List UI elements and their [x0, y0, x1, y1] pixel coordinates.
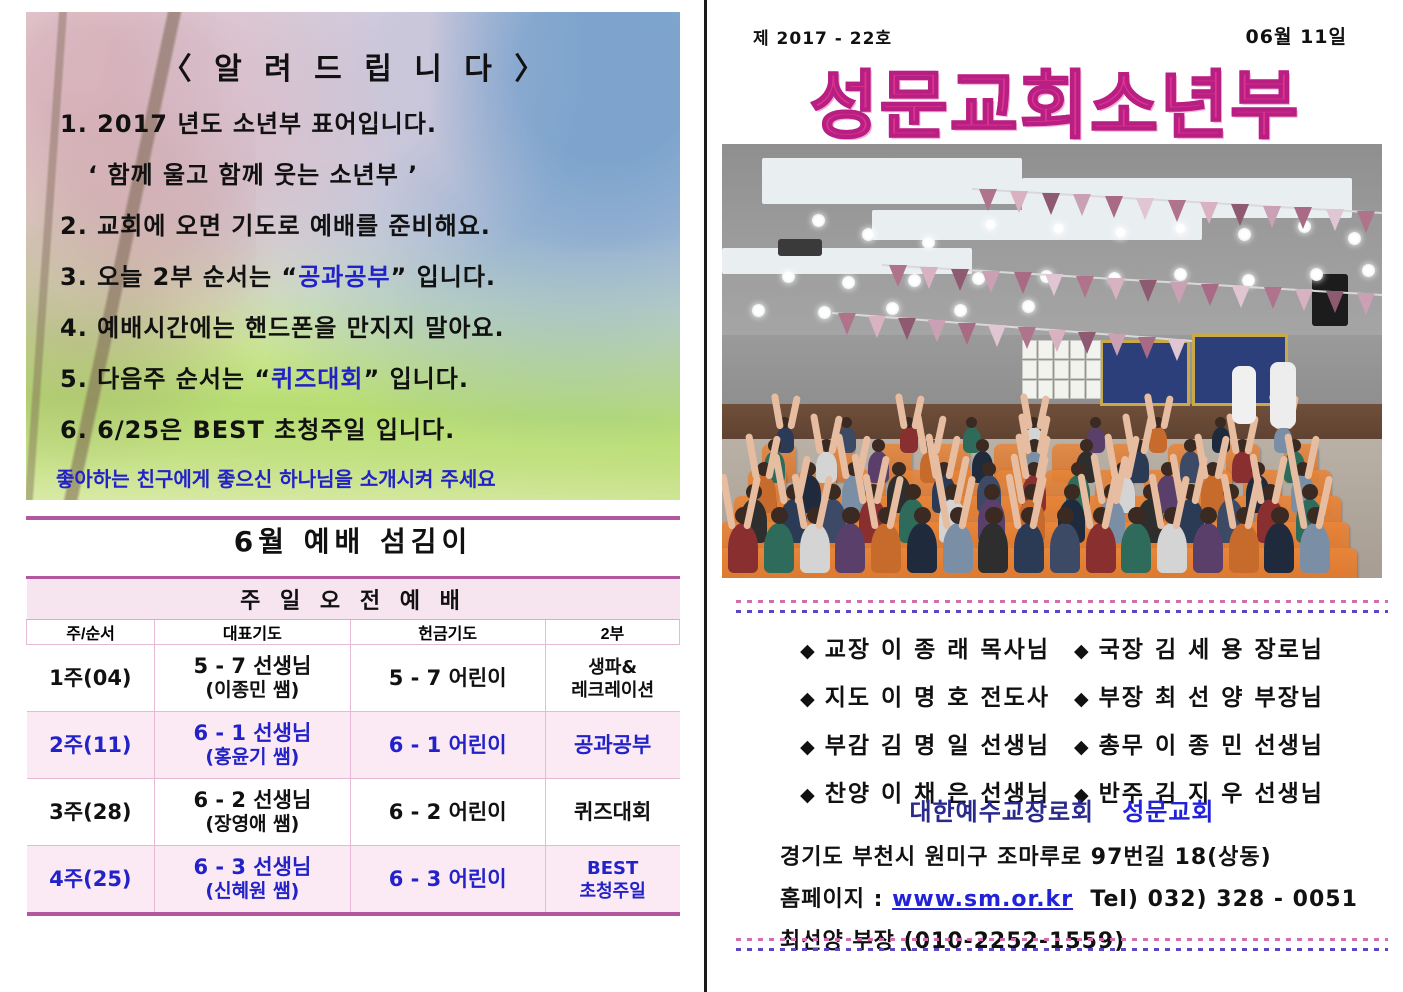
announcement-item-text: 1. 2017 년도 소년부 표어입니다. — [60, 110, 437, 138]
photo-ceiling-light — [1174, 222, 1187, 235]
photo-bunting-flag — [1138, 337, 1156, 359]
photo-ceiling-light — [1348, 232, 1361, 245]
photo-person — [943, 523, 973, 573]
staff-row: ◆지도 이 명 호 전도사◆부장 최 선 양 부장님 — [736, 678, 1388, 712]
diamond-bullet-icon: ◆ — [800, 640, 817, 662]
schedule-subcaption: 주 일 오 전 예 배 — [27, 579, 680, 620]
photo-bunting-flag — [1048, 330, 1066, 352]
photo-bunting-flag — [1010, 191, 1028, 213]
photo-ceiling-light — [1174, 268, 1187, 281]
photo-person-head — [1200, 507, 1217, 524]
photo-bunting-flag — [1326, 291, 1344, 313]
photo-person-head — [1215, 417, 1226, 428]
photo-bunting-flag — [1326, 209, 1344, 231]
bulletin-page: 〈 알 려 드 립 니 다 〉 1. 2017 년도 소년부 표어입니다.‘ 함… — [0, 0, 1403, 992]
staff-name: 김 세 용 장로님 — [1155, 637, 1324, 663]
photo-person — [900, 427, 918, 453]
announcement-item-text: 4. 예배시간에는 핸드폰을 만지지 말아요. — [60, 314, 505, 342]
photo-bunting-flag — [868, 316, 886, 338]
photo-person-head — [1064, 484, 1080, 500]
photo-person — [1086, 523, 1116, 573]
staff-role: 부장 — [1099, 685, 1155, 711]
staff-role: 교장 — [825, 637, 881, 663]
prayer-teacher: (신혜원 쌤) — [155, 880, 349, 902]
photo-wall-paper — [1086, 360, 1101, 379]
photo-bunting-flag — [1107, 278, 1125, 300]
church-name-line: 대한예수교장로회 성문교회 — [736, 792, 1388, 827]
photo-person-head — [892, 462, 906, 476]
photo-ceiling-light — [812, 214, 825, 227]
photo-bunting-flag — [838, 313, 856, 335]
schedule-week: 3주(28) — [27, 779, 155, 846]
second-session-line2: 레크레이션 — [546, 680, 680, 703]
diamond-bullet-icon: ◆ — [1074, 640, 1091, 662]
photo-person — [764, 523, 794, 573]
photo-stage-person — [1232, 366, 1256, 424]
diamond-bullet-icon: ◆ — [1074, 736, 1091, 758]
staff-item: ◆교장 이 종 래 목사님 — [800, 630, 1050, 664]
photo-ceiling-light — [1362, 264, 1375, 277]
photo-person — [1149, 427, 1167, 453]
denomination-label: 대한예수교장로회 — [909, 798, 1094, 826]
second-session-line1: 생파& — [588, 657, 637, 678]
photo-bunting-flag — [1295, 289, 1313, 311]
photo-bunting-flag — [982, 271, 1000, 293]
telephone: Tel) 032) 328 - 0051 — [1090, 887, 1358, 912]
photo-person-head — [914, 507, 931, 524]
schedule-col-header: 주/순서 — [27, 620, 155, 645]
prayer-class: 6 - 3 선생님 — [193, 855, 311, 879]
prayer-class: 6 - 2 선생님 — [193, 788, 311, 812]
photo-person — [978, 523, 1008, 573]
announcement-item-text: 2. 교회에 오면 기도로 예배를 준비해요. — [60, 212, 491, 240]
schedule-offering-prayer: 6 - 2 어린이 — [350, 779, 545, 846]
photo-person-head — [985, 507, 1002, 524]
schedule-week: 2주(11) — [27, 712, 155, 779]
staff-row: ◆교장 이 종 래 목사님◆국장 김 세 용 장로님 — [736, 630, 1388, 664]
schedule-second-session: 생파&레크레이션 — [545, 645, 679, 712]
photo-wall-paper — [1086, 380, 1101, 399]
staff-item: ◆총무 이 종 민 선생님 — [1074, 726, 1324, 760]
prayer-class: 5 - 7 선생님 — [193, 654, 311, 678]
staff-item: ◆국장 김 세 용 장로님 — [1074, 630, 1324, 664]
photo-person-head — [1080, 439, 1093, 452]
staff-role: 부감 — [825, 733, 881, 759]
schedule-row: 4주(25)6 - 3 선생님(신혜원 쌤)6 - 3 어린이BEST초청주일 — [27, 846, 680, 915]
schedule-main-prayer: 5 - 7 선생님(이종민 쌤) — [155, 645, 350, 712]
announcement-item-text: ‘ 함께 울고 함께 웃는 소년부 ’ — [88, 161, 418, 189]
announcement-item: 6. 6/25은 BEST 초청주일 입니다. — [60, 410, 660, 445]
photo-person-head — [966, 417, 977, 428]
photo-person — [871, 523, 901, 573]
schedule-week: 4주(25) — [27, 846, 155, 915]
photo-bunting-flag — [1232, 286, 1250, 308]
photo-bunting-flag — [1105, 196, 1123, 218]
photo-person — [728, 523, 758, 573]
announcement-item: 5. 다음주 순서는 “퀴즈대회” 입니다. — [60, 359, 660, 394]
second-session-line2: 초청주일 — [546, 881, 680, 904]
diamond-bullet-icon: ◆ — [1074, 688, 1091, 710]
announcement-item-highlight: 공과공부 — [298, 263, 390, 291]
photo-person-head — [976, 439, 989, 452]
photo-bunting-flag — [1170, 282, 1188, 304]
homepage-label: 홈페이지 : — [780, 887, 892, 912]
photo-person-head — [872, 439, 885, 452]
schedule-col-header: 헌금기도 — [350, 620, 545, 645]
photo-person — [1121, 523, 1151, 573]
staff-item: ◆지도 이 명 호 전도사 — [800, 678, 1050, 712]
photo-person — [1229, 523, 1259, 573]
photo-person-head — [1128, 507, 1145, 524]
schedule-column-headers: 주/순서대표기도헌금기도2부 — [27, 620, 680, 645]
photo-person-head — [842, 507, 859, 524]
photo-bunting-flag — [1073, 194, 1091, 216]
photo-ceiling-light — [1052, 222, 1065, 235]
second-session-line1: 퀴즈대회 — [574, 800, 651, 824]
photo-person — [1050, 523, 1080, 573]
schedule-col-header: 대표기도 — [155, 620, 350, 645]
photo-person-head — [905, 484, 921, 500]
photo-bunting-flag — [889, 265, 907, 287]
photo-ceiling-light — [922, 236, 935, 249]
photo-person — [1300, 523, 1330, 573]
photo-bunting-flag — [1014, 272, 1032, 294]
photo-ceiling-light — [818, 306, 831, 319]
announcement-item-text: 6. 6/25은 BEST 초청주일 입니다. — [60, 416, 455, 444]
schedule-second-session: 공과공부 — [545, 712, 679, 779]
schedule-col-header: 2부 — [545, 620, 679, 645]
photo-person-head — [1302, 484, 1318, 500]
photo-bunting-flag — [1264, 287, 1282, 309]
schedule-row: 1주(04)5 - 7 선생님(이종민 쌤)5 - 7 어린이생파&레크레이션 — [27, 645, 680, 712]
photo-person — [907, 523, 937, 573]
schedule-second-session: 퀴즈대회 — [545, 779, 679, 846]
photo-person-head — [984, 484, 1000, 500]
staff-item: ◆부장 최 선 양 부장님 — [1074, 678, 1324, 712]
diamond-bullet-icon: ◆ — [800, 736, 817, 758]
photo-bunting-flag — [898, 318, 916, 340]
photo-bunting-flag — [928, 320, 946, 342]
photo-bunting-flag — [958, 323, 976, 345]
staff-role: 총무 — [1099, 733, 1155, 759]
announcement-item-highlight: 퀴즈대회 — [271, 365, 363, 393]
divider-dots-blue-bottom — [736, 948, 1388, 951]
staff-row: ◆부감 김 명 일 선생님◆총무 이 종 민 선생님 — [736, 726, 1388, 760]
photo-bunting-flag — [1263, 206, 1281, 228]
schedule-body: 1주(04)5 - 7 선생님(이종민 쌤)5 - 7 어린이생파&레크레이션2… — [27, 645, 680, 915]
schedule-row: 2주(11)6 - 1 선생님(홍윤기 쌤)6 - 1 어린이공과공부 — [27, 712, 680, 779]
photo-ceiling-light — [1114, 226, 1127, 239]
divider-dots-blue-top — [736, 610, 1388, 613]
photo-wall-paper — [1070, 360, 1085, 379]
photo-person-head — [1057, 507, 1074, 524]
photo-bunting-flag — [1108, 334, 1126, 356]
photo-stage-person — [1270, 362, 1296, 428]
announcement-footer-text: 좋아하는 친구에게 좋으신 하나님을 소개시켜 주세요 — [56, 463, 660, 492]
photo-wall-paper — [1054, 380, 1069, 399]
divider-dots-pink-bottom — [736, 938, 1388, 941]
photo-wall-paper — [1022, 360, 1037, 379]
announcement-title: 〈 알 려 드 립 니 다 〉 — [52, 44, 660, 88]
issue-date: 06월 11일 — [1246, 22, 1347, 49]
photo-bunting-flag — [1045, 274, 1063, 296]
photo-person — [1014, 523, 1044, 573]
schedule-offering-prayer: 6 - 3 어린이 — [350, 846, 545, 915]
photo-person-head — [1271, 507, 1288, 524]
schedule-offering-prayer: 6 - 1 어린이 — [350, 712, 545, 779]
photo-ceiling-light — [842, 276, 855, 289]
masthead-title: 성문교회소년부 — [707, 46, 1403, 153]
staff-role: 국장 — [1099, 637, 1155, 663]
announcement-item-text: 3. 오늘 2부 순서는 “ — [60, 263, 298, 291]
photo-ceiling-light — [886, 302, 899, 315]
photo-person-head — [771, 507, 788, 524]
photo-person-head — [1090, 417, 1101, 428]
homepage-line: 홈페이지 : www.sm.or.kr Tel) 032) 328 - 0051 — [780, 881, 1388, 913]
photo-bunting-flag — [1168, 200, 1186, 222]
photo-person — [1157, 523, 1187, 573]
prayer-teacher: (홍윤기 쌤) — [155, 746, 349, 768]
photo-bunting-flag — [920, 267, 938, 289]
service-schedule-table: 6월 예배 섬김이 주 일 오 전 예 배 주/순서대표기도헌금기도2부 1주(… — [26, 516, 680, 916]
photo-bunting-flag — [1076, 276, 1094, 298]
photo-bunting-flag — [1139, 280, 1157, 302]
photo-bunting-flag — [1018, 327, 1036, 349]
photo-bunting-flag — [1042, 193, 1060, 215]
photo-person — [1264, 523, 1294, 573]
staff-item: ◆부감 김 명 일 선생님 — [800, 726, 1050, 760]
photo-ceiling-light — [1022, 300, 1035, 313]
second-session-line1: BEST — [587, 858, 638, 879]
announcement-item: ‘ 함께 울고 함께 웃는 소년부 ’ — [88, 155, 660, 190]
photo-bunting-flag — [1357, 211, 1375, 233]
church-name: 성문교회 — [1122, 798, 1214, 826]
photo-ceiling-light — [782, 270, 795, 283]
worship-photo — [722, 144, 1382, 578]
photo-ceiling-light — [984, 218, 997, 231]
staff-name: 김 명 일 선생님 — [881, 733, 1050, 759]
announcement-item: 3. 오늘 2부 순서는 “공과공부” 입니다. — [60, 257, 660, 292]
second-session-line1: 공과공부 — [574, 733, 651, 757]
photo-bunting-flag — [951, 269, 969, 291]
homepage-url[interactable]: www.sm.or.kr — [892, 887, 1073, 912]
diamond-bullet-icon: ◆ — [800, 688, 817, 710]
announcement-item: 4. 예배시간에는 핸드폰을 만지지 말아요. — [60, 308, 660, 343]
staff-name: 이 명 호 전도사 — [881, 685, 1050, 711]
photo-person — [835, 523, 865, 573]
photo-ceiling-light — [954, 304, 967, 317]
prayer-teacher: (이종민 쌤) — [155, 679, 349, 701]
announcement-item-text: 5. 다음주 순서는 “ — [60, 365, 271, 393]
schedule-main-prayer: 6 - 2 선생님(장영애 쌤) — [155, 779, 350, 846]
photo-bunting-flag — [1357, 293, 1375, 315]
photo-bunting-flag — [1200, 202, 1218, 224]
photo-bunting-flag — [979, 189, 997, 211]
photo-bunting-flag — [1136, 198, 1154, 220]
schedule-main-prayer: 6 - 3 선생님(신혜원 쌤) — [155, 846, 350, 915]
schedule-caption: 6월 예배 섬김이 — [26, 516, 680, 579]
photo-wall-paper — [1038, 360, 1053, 379]
schedule-row: 3주(28)6 - 2 선생님(장영애 쌤)6 - 2 어린이퀴즈대회 — [27, 779, 680, 846]
photo-person — [800, 523, 830, 573]
photo-ceiling-light — [862, 228, 875, 241]
prayer-teacher: (장영애 쌤) — [155, 813, 349, 835]
schedule-second-session: BEST초청주일 — [545, 846, 679, 915]
photo-bunting-flag — [988, 325, 1006, 347]
staff-name: 이 종 민 선생님 — [1155, 733, 1324, 759]
announcement-item: 1. 2017 년도 소년부 표어입니다. — [60, 104, 660, 139]
schedule-offering-prayer: 5 - 7 어린이 — [350, 645, 545, 712]
left-panel: 〈 알 려 드 립 니 다 〉 1. 2017 년도 소년부 표어입니다.‘ 함… — [0, 0, 704, 992]
photo-ceiling-light — [1238, 228, 1251, 241]
photo-ceiling-light — [752, 304, 765, 317]
photo-wall-paper — [1070, 380, 1085, 399]
announcement-list: 1. 2017 년도 소년부 표어입니다.‘ 함께 울고 함께 웃는 소년부 ’… — [52, 104, 660, 445]
staff-name: 이 종 래 목사님 — [881, 637, 1050, 663]
announcement-item-text-tail: ” 입니다. — [391, 263, 497, 291]
photo-person — [1193, 523, 1223, 573]
photo-person-head — [982, 462, 996, 476]
schedule-main-prayer: 6 - 1 선생님(홍윤기 쌤) — [155, 712, 350, 779]
staff-name: 최 선 양 부장님 — [1155, 685, 1324, 711]
photo-bunting-flag — [1231, 204, 1249, 226]
staff-role: 지도 — [825, 685, 881, 711]
announcement-item-text-tail: ” 입니다. — [363, 365, 469, 393]
schedule-week: 1주(04) — [27, 645, 155, 712]
announcement-card: 〈 알 려 드 립 니 다 〉 1. 2017 년도 소년부 표어입니다.‘ 함… — [26, 12, 680, 500]
address-line: 경기도 부천시 원미구 조마루로 97번길 18(상동) — [780, 839, 1388, 871]
photo-projector — [778, 239, 822, 256]
photo-bunting-flag — [1078, 332, 1096, 354]
photo-bunting-flag — [1201, 284, 1219, 306]
announcement-item: 2. 교회에 오면 기도로 예배를 준비해요. — [60, 206, 660, 241]
photo-bunting-flag — [1168, 339, 1186, 361]
photo-wall-paper — [1054, 360, 1069, 379]
photo-ceiling-light — [1310, 268, 1323, 281]
divider-dots-pink-top — [736, 600, 1388, 603]
prayer-class: 6 - 1 선생님 — [193, 721, 311, 745]
photo-bunting-flag — [1294, 207, 1312, 229]
